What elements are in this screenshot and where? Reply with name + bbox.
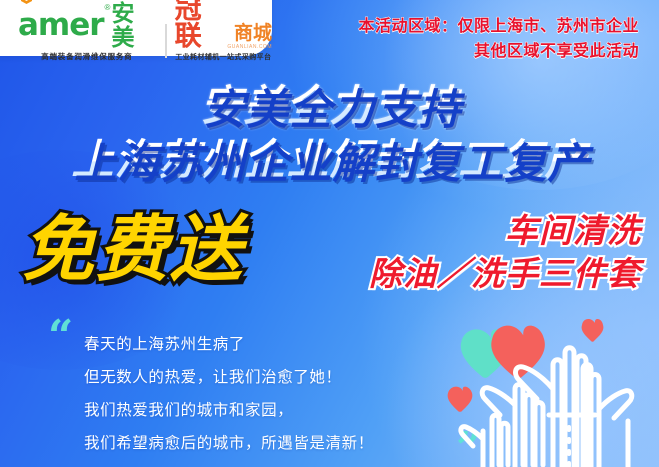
free-gift-label: 免费送 [22,208,244,292]
amer-logo[interactable]: amer ® 安美 高端装备润滑维保服务商 [18,1,156,62]
hand-far-left [461,427,483,467]
region-notice: 本活动区域：仅限上海市、苏州市企业 其他区域不享受此活动 [358,14,639,64]
guanlian-name: 冠联 [175,0,228,50]
raised-hands-illustration [445,295,655,467]
guanlian-pinyin: GUANLIAN.COM [227,44,272,50]
guanlian-logo[interactable]: 冠联 商城 GUANLIAN.COM 工业耗材辅机一站式采购平台 [175,0,272,62]
guanlian-tagline: 工业耗材辅机一站式采购平台 [175,52,271,62]
promo-banner: amer ® 安美 高端装备润滑维保服务商 冠联 商城 GUANLIAN.COM… [0,0,659,467]
offer-item-line1: 车间清洗 [369,210,641,252]
region-notice-line2: 其他区域不享受此活动 [358,39,639,64]
quote-line-3: 我们热爱我们的城市和家园， [84,394,478,427]
region-notice-line1: 本活动区域：仅限上海市、苏州市企业 [358,14,639,39]
quote-line-1: 春天的上海苏州生病了 [84,328,478,361]
quote-block: “ 春天的上海苏州生病了 但无数人的热爱，让我们治愈了她！ 我们热爱我们的城市和… [48,322,478,460]
quote-lines: 春天的上海苏州生病了 但无数人的热爱，让我们治愈了她！ 我们热爱我们的城市和家园… [84,322,478,460]
headline-line2: 上海苏州企业解封复工复产 [0,134,659,186]
amer-tagline: 高端装备润滑维保服务商 [41,51,132,62]
logo-inner: amer ® 安美 高端装备润滑维保服务商 冠联 商城 GUANLIAN.COM… [0,0,272,62]
logo-divider [165,24,167,58]
offer-item-line2: 除油／洗手三件套 [369,252,641,296]
amer-chinese-name: 安美 [111,1,155,49]
offer-items: 车间清洗 除油／洗手三件套 [369,210,641,296]
headline: 安美全力支持 上海苏州企业解封复工复产 [0,82,659,186]
quote-line-2: 但无数人的热爱，让我们治愈了她！ [84,361,478,394]
offer-row: 免费送 车间清洗 除油／洗手三件套 [0,200,659,305]
heart-red-small-left-icon [448,387,473,412]
amer-logo-row: amer ® 安美 [18,1,156,49]
hexagon-icon [21,0,32,4]
registered-trademark-icon: ® [105,3,111,12]
logo-card[interactable]: amer ® 安美 高端装备润滑维保服务商 冠联 商城 GUANLIAN.COM… [0,0,272,56]
headline-line1: 安美全力支持 [0,82,659,130]
guanlian-logo-row: 冠联 商城 GUANLIAN.COM [175,0,272,50]
heart-red-small-top-icon [582,319,604,342]
amer-wordmark: amer [18,10,104,40]
guanlian-mall-label: 商城 [234,23,272,44]
quote-open-mark: “ [48,322,73,352]
quote-line-4: 我们希望病愈后的城市，所遇皆是清新！ [84,427,478,460]
